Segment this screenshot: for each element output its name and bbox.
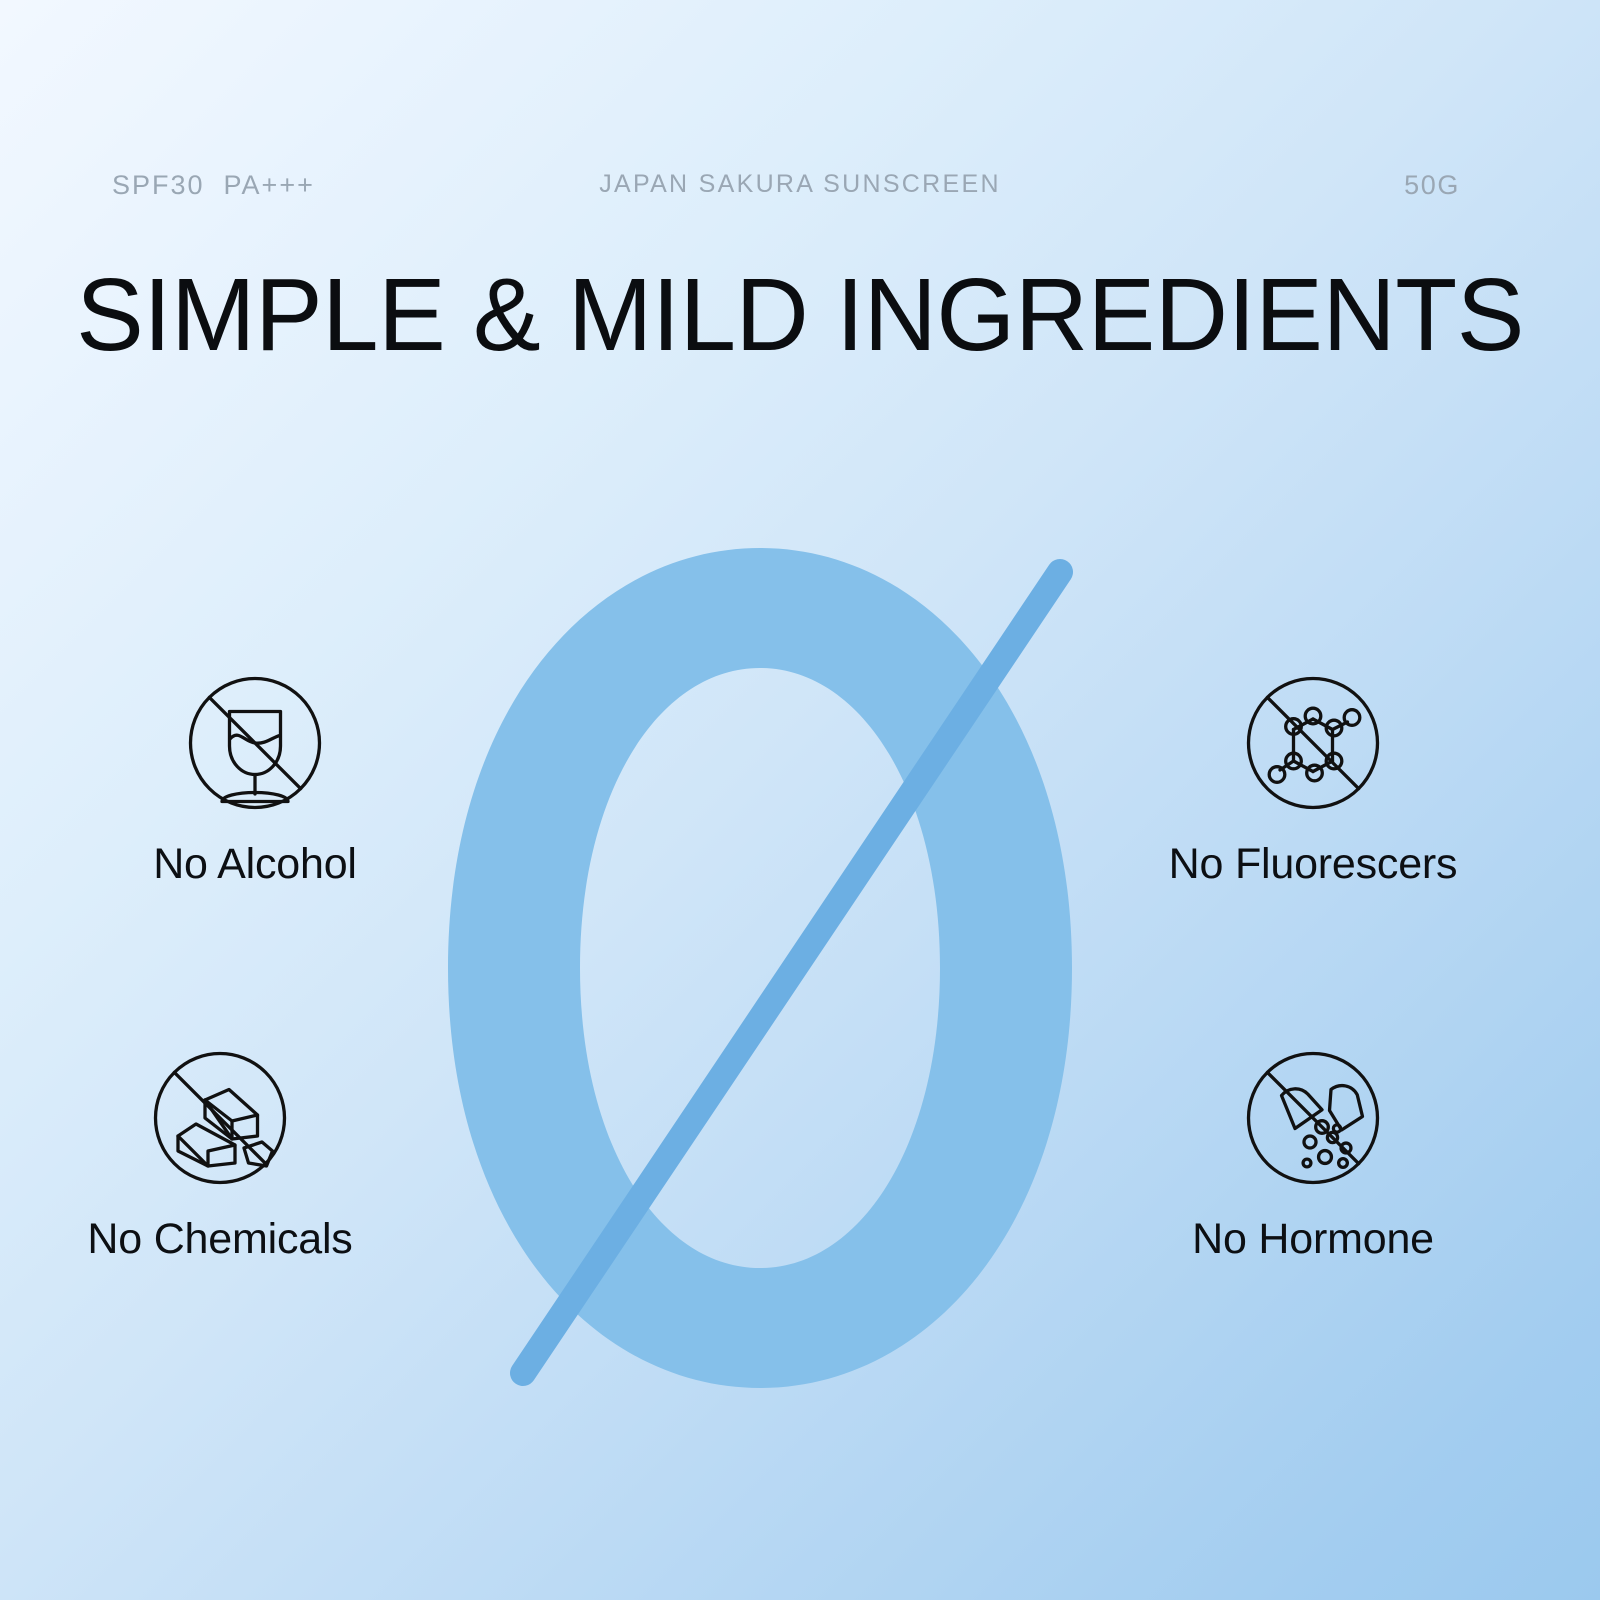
no-alcohol-icon — [180, 668, 330, 818]
prohibition-slash — [1267, 697, 1358, 788]
feature-label: No Hormone — [1133, 1215, 1493, 1264]
feature-no-alcohol[interactable]: No Alcohol — [75, 668, 435, 889]
glass-base — [222, 793, 288, 802]
zero-hero-graphic — [440, 520, 1160, 1420]
no-hormone-icon — [1238, 1043, 1388, 1193]
no-fluorescers-icon — [1238, 668, 1388, 818]
feature-label: No Chemicals — [40, 1215, 400, 1264]
poster-canvas: SPF30 PA+++ JAPAN SAKURA SUNSCREEN 50G S… — [0, 0, 1600, 1600]
product-brand-label: JAPAN SAKURA SUNSCREEN — [0, 170, 1600, 199]
feature-label: No Alcohol — [75, 840, 435, 889]
feature-no-hormone[interactable]: No Hormone — [1133, 1043, 1493, 1264]
page-title: SIMPLE & MILD INGREDIENTS — [12, 263, 1588, 366]
net-weight-label: 50G — [1404, 170, 1460, 201]
feature-no-fluorescers[interactable]: No Fluorescers — [1133, 668, 1493, 889]
feature-label: No Fluorescers — [1133, 840, 1493, 889]
no-chemicals-icon — [145, 1043, 295, 1193]
header-bar: SPF30 PA+++ JAPAN SAKURA SUNSCREEN 50G — [0, 170, 1600, 220]
capsule-half-right — [1330, 1086, 1363, 1130]
feature-no-chemicals[interactable]: No Chemicals — [40, 1043, 400, 1264]
